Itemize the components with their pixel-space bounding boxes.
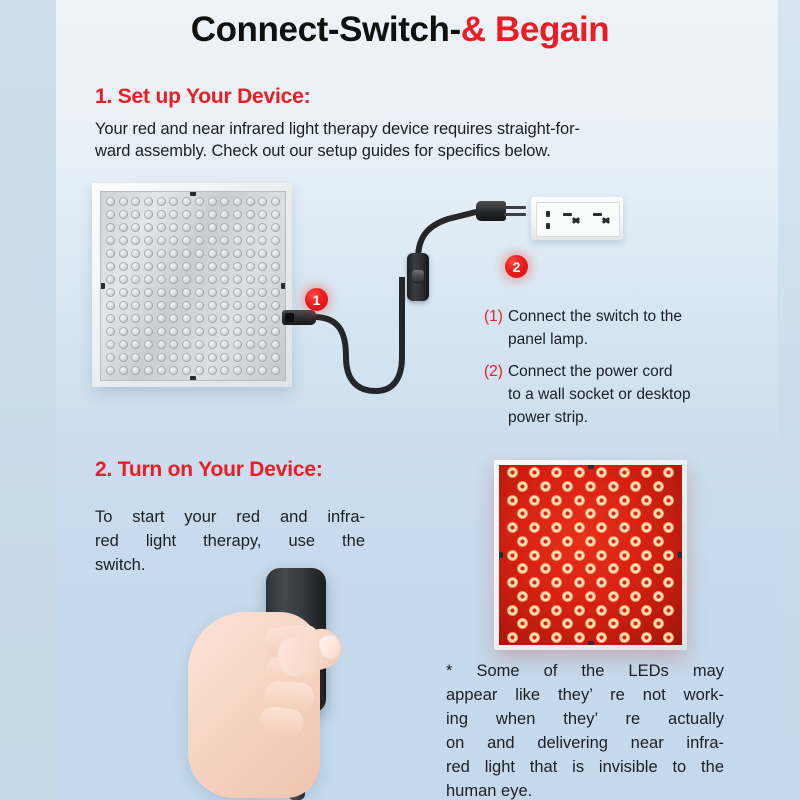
led-lit [562, 618, 573, 629]
led-unlit [208, 275, 217, 284]
led-unlit [182, 197, 191, 206]
led-unlit [182, 262, 191, 271]
led-unlit [258, 210, 267, 219]
led-lit [619, 495, 630, 506]
led-lit [529, 632, 540, 643]
led-unlit [169, 197, 178, 206]
section-2-body-line-1: To start your red and infra- [95, 505, 365, 529]
led-unlit [182, 249, 191, 258]
led-unlit [220, 340, 229, 349]
led-lit [641, 632, 652, 643]
step-badge-1: 1 [305, 288, 328, 311]
led-lit [517, 508, 528, 519]
led-unlit [208, 262, 217, 271]
led-lit [574, 577, 585, 588]
led-unlit [182, 340, 191, 349]
led-lit [551, 605, 562, 616]
led-unlit [106, 249, 115, 258]
led-unlit [106, 275, 115, 284]
led-unlit [271, 275, 280, 284]
connect-instruction-text: Connect the switch to the panel lamp. [508, 305, 784, 351]
page-title: Connect-Switch-& Begain [0, 10, 800, 50]
led-lit [507, 550, 518, 561]
step-badge-2: 2 [505, 255, 528, 278]
led-unlit [119, 236, 128, 245]
led-unlit [195, 327, 204, 336]
led-unlit [195, 288, 204, 297]
connect-instruction-item: (2) Connect the power cord to a wall soc… [484, 360, 784, 429]
led-unlit [182, 210, 191, 219]
led-unlit [144, 210, 153, 219]
led-unlit [258, 327, 267, 336]
inline-rocker-switch [407, 253, 429, 301]
led-lit [585, 508, 596, 519]
led-unlit [258, 223, 267, 232]
footnote-line: human eye. [446, 779, 724, 800]
led-unlit [246, 275, 255, 284]
led-unlit [220, 249, 229, 258]
led-row [501, 563, 680, 574]
led-unlit [131, 288, 140, 297]
led-lit [630, 508, 641, 519]
socket-outlet-two-pin-icon [541, 210, 555, 230]
led-lit [585, 563, 596, 574]
led-lit [653, 618, 664, 629]
led-lit [551, 632, 562, 643]
led-unlit [208, 197, 217, 206]
led-lit [608, 591, 619, 602]
page-title-black: Connect-Switch- [191, 10, 461, 49]
led-lit [540, 563, 551, 574]
led-unlit [157, 275, 166, 284]
led-lit [630, 536, 641, 547]
connect-instruction-line: power strip. [508, 406, 784, 429]
led-unlit [220, 210, 229, 219]
led-unlit [271, 327, 280, 336]
led-unlit [233, 236, 242, 245]
led-lit [574, 605, 585, 616]
led-unlit [246, 236, 255, 245]
led-lit [562, 481, 573, 492]
plug-prong-icon [504, 206, 526, 209]
led-unlit [271, 249, 280, 258]
led-unlit [119, 223, 128, 232]
led-unlit [131, 353, 140, 362]
led-lit [596, 577, 607, 588]
footnote-note: * Some of the LEDs may appear like they’… [446, 659, 724, 800]
led-grid-lit [501, 467, 680, 643]
footnote-line: red light that is invisible to the [446, 755, 724, 779]
led-unlit [169, 210, 178, 219]
led-unlit [195, 314, 204, 323]
led-unlit [258, 197, 267, 206]
led-lit [517, 563, 528, 574]
led-unlit [131, 366, 140, 375]
led-unlit [246, 210, 255, 219]
led-unlit [169, 314, 178, 323]
led-unlit [195, 366, 204, 375]
led-lit [641, 577, 652, 588]
footnote-line: * Some of the LEDs may [446, 659, 724, 683]
led-lit [585, 591, 596, 602]
led-lit [574, 632, 585, 643]
led-unlit [182, 327, 191, 336]
led-lit [596, 467, 607, 478]
led-unlit [119, 210, 128, 219]
led-lit [529, 605, 540, 616]
led-unlit [220, 262, 229, 271]
led-unlit [106, 327, 115, 336]
led-unlit [144, 223, 153, 232]
led-lit [619, 467, 630, 478]
led-lit [663, 605, 674, 616]
led-unlit [106, 366, 115, 375]
plug-prong-icon [504, 213, 526, 216]
two-prong-plug [476, 201, 506, 221]
led-unlit [233, 223, 242, 232]
led-panel-lit-surface [499, 465, 682, 645]
panel-screw-top-icon [588, 465, 594, 469]
led-lit [641, 467, 652, 478]
connect-instruction-text: Connect the power cord to a wall socket … [508, 360, 784, 429]
led-unlit [208, 301, 217, 310]
led-unlit [233, 275, 242, 284]
led-unlit [119, 340, 128, 349]
led-unlit [106, 197, 115, 206]
led-lit [529, 550, 540, 561]
led-unlit [233, 210, 242, 219]
led-lit [529, 495, 540, 506]
led-unlit [220, 223, 229, 232]
led-lit [517, 618, 528, 629]
led-unlit [208, 327, 217, 336]
led-unlit [208, 340, 217, 349]
led-lit [630, 591, 641, 602]
led-unlit [182, 236, 191, 245]
led-row [501, 605, 680, 616]
connect-instruction-item: (1) Connect the switch to the panel lamp… [484, 305, 784, 351]
led-lit [630, 563, 641, 574]
led-unlit [182, 275, 191, 284]
led-unlit [182, 353, 191, 362]
led-lit [507, 605, 518, 616]
led-unlit [258, 275, 267, 284]
led-lit [619, 605, 630, 616]
led-unlit [182, 314, 191, 323]
led-lit [540, 481, 551, 492]
socket-outlet-three-pin-icon [563, 210, 585, 230]
led-lit [596, 632, 607, 643]
led-unlit [208, 353, 217, 362]
led-unlit [106, 262, 115, 271]
wall-socket [531, 197, 623, 240]
led-unlit [246, 327, 255, 336]
left-edge-band [0, 0, 56, 800]
led-unlit [144, 275, 153, 284]
led-unlit [246, 340, 255, 349]
led-unlit [258, 236, 267, 245]
led-unlit [246, 249, 255, 258]
led-lit [529, 577, 540, 588]
led-lit [596, 522, 607, 533]
led-unlit [131, 249, 140, 258]
led-unlit [144, 314, 153, 323]
led-unlit [208, 288, 217, 297]
led-unlit [157, 236, 166, 245]
led-unlit [258, 262, 267, 271]
led-unlit [271, 262, 280, 271]
led-lit [585, 618, 596, 629]
led-lit [663, 550, 674, 561]
led-lit [574, 550, 585, 561]
led-unlit [208, 210, 217, 219]
led-unlit [106, 288, 115, 297]
led-row [501, 577, 680, 588]
led-unlit [157, 288, 166, 297]
led-unlit [131, 197, 140, 206]
led-unlit [233, 262, 242, 271]
led-lit [551, 577, 562, 588]
connect-instruction-marker: (2) [484, 360, 503, 429]
led-unlit [246, 366, 255, 375]
led-unlit [131, 262, 140, 271]
led-lit [529, 522, 540, 533]
led-lit [619, 522, 630, 533]
led-unlit [106, 236, 115, 245]
led-lit [551, 467, 562, 478]
led-row [501, 481, 680, 492]
led-unlit [246, 223, 255, 232]
led-unlit [157, 327, 166, 336]
led-unlit [157, 314, 166, 323]
led-unlit [246, 353, 255, 362]
led-unlit [195, 210, 204, 219]
led-lit [517, 536, 528, 547]
led-unlit [106, 210, 115, 219]
led-lit [641, 550, 652, 561]
connect-instruction-marker: (1) [484, 305, 503, 351]
led-unlit [208, 249, 217, 258]
section-2-heading: 2. Turn on Your Device: [95, 458, 323, 482]
led-unlit [208, 223, 217, 232]
led-unlit [169, 249, 178, 258]
connect-instruction-line: Connect the power cord [508, 360, 784, 383]
connect-instruction-line: panel lamp. [508, 328, 784, 351]
led-unlit [246, 197, 255, 206]
led-unlit [169, 301, 178, 310]
led-unlit [144, 249, 153, 258]
footnote-line: ing when they’ re actually [446, 707, 724, 731]
led-unlit [271, 314, 280, 323]
led-unlit [258, 366, 267, 375]
connect-instructions-list: (1) Connect the switch to the panel lamp… [484, 305, 784, 438]
section-2-body-line-2: red light therapy, use the [95, 529, 365, 553]
led-lit [641, 605, 652, 616]
led-unlit [106, 314, 115, 323]
led-unlit [195, 223, 204, 232]
footnote-line: on and delivering near infra- [446, 731, 724, 755]
led-unlit [233, 327, 242, 336]
led-panel-unlit-surface [100, 191, 286, 381]
led-row [501, 508, 680, 519]
led-lit [619, 550, 630, 561]
led-lit [608, 563, 619, 574]
led-unlit [169, 353, 178, 362]
led-lit [562, 591, 573, 602]
led-unlit [157, 353, 166, 362]
led-unlit [131, 301, 140, 310]
led-lit [663, 495, 674, 506]
led-unlit [195, 262, 204, 271]
led-unlit [169, 327, 178, 336]
led-unlit [182, 223, 191, 232]
led-unlit [119, 314, 128, 323]
led-unlit [144, 236, 153, 245]
led-unlit [246, 301, 255, 310]
led-lit [653, 563, 664, 574]
led-unlit [208, 314, 217, 323]
led-unlit [246, 288, 255, 297]
led-unlit [208, 366, 217, 375]
led-unlit [106, 301, 115, 310]
led-lit [562, 563, 573, 574]
led-unlit [119, 249, 128, 258]
led-unlit [119, 327, 128, 336]
led-lit [585, 481, 596, 492]
led-lit [517, 591, 528, 602]
led-unlit [119, 288, 128, 297]
led-unlit [246, 262, 255, 271]
led-lit [540, 536, 551, 547]
led-lit [608, 618, 619, 629]
led-unlit [157, 340, 166, 349]
connect-instruction-line: Connect the switch to the [508, 305, 784, 328]
led-lit [596, 605, 607, 616]
led-unlit [169, 288, 178, 297]
led-unlit [157, 366, 166, 375]
panel-screw-right-icon [678, 552, 682, 558]
socket-outlet-three-pin-icon [593, 210, 615, 230]
led-lit [608, 536, 619, 547]
led-unlit [131, 210, 140, 219]
led-unlit [169, 340, 178, 349]
led-unlit [246, 314, 255, 323]
led-unlit [119, 366, 128, 375]
led-unlit [233, 288, 242, 297]
led-lit [540, 591, 551, 602]
led-lit [619, 577, 630, 588]
led-unlit [131, 236, 140, 245]
led-unlit [182, 366, 191, 375]
panel-connector-plug [282, 310, 316, 325]
led-row [501, 591, 680, 602]
led-lit [596, 495, 607, 506]
led-unlit [220, 366, 229, 375]
led-unlit [271, 340, 280, 349]
led-unlit [144, 197, 153, 206]
led-unlit [233, 353, 242, 362]
led-unlit [195, 340, 204, 349]
led-lit [653, 508, 664, 519]
led-unlit [271, 301, 280, 310]
led-lit [551, 495, 562, 506]
led-unlit [157, 262, 166, 271]
panel-screw-bottom-icon [190, 376, 196, 381]
led-grid-unlit [104, 195, 282, 377]
page-title-red: & Begain [461, 10, 610, 49]
led-lit [653, 591, 664, 602]
led-row [501, 550, 680, 561]
led-unlit [220, 301, 229, 310]
led-lit [562, 536, 573, 547]
led-unlit [195, 197, 204, 206]
led-unlit [220, 314, 229, 323]
led-unlit [233, 301, 242, 310]
led-unlit [144, 262, 153, 271]
led-unlit [271, 236, 280, 245]
led-row [501, 522, 680, 533]
led-unlit [271, 223, 280, 232]
led-unlit [144, 327, 153, 336]
led-lit [507, 467, 518, 478]
led-lit [653, 536, 664, 547]
led-lit [507, 577, 518, 588]
led-unlit [195, 236, 204, 245]
led-lit [641, 495, 652, 506]
led-unlit [119, 275, 128, 284]
led-unlit [195, 353, 204, 362]
led-row [501, 536, 680, 547]
led-unlit [144, 301, 153, 310]
led-unlit [119, 262, 128, 271]
hand-holding-switch [180, 560, 470, 800]
led-unlit [131, 340, 140, 349]
led-panel-unlit [92, 183, 292, 387]
section-1-heading: 1. Set up Your Device: [95, 85, 310, 109]
led-lit [517, 481, 528, 492]
led-unlit [233, 366, 242, 375]
led-unlit [131, 327, 140, 336]
panel-screw-bottom-icon [588, 641, 594, 645]
led-lit [653, 481, 664, 492]
led-row [501, 495, 680, 506]
led-unlit [144, 288, 153, 297]
led-unlit [157, 249, 166, 258]
led-unlit [195, 275, 204, 284]
led-unlit [169, 366, 178, 375]
led-unlit [220, 288, 229, 297]
footnote-line: appear like they’ re not work- [446, 683, 724, 707]
led-unlit [106, 353, 115, 362]
led-unlit [271, 353, 280, 362]
led-unlit [131, 275, 140, 284]
led-lit [619, 632, 630, 643]
section-1-body-line-2: ward assembly. Check out our setup guide… [95, 140, 695, 162]
section-1-body-line-1: Your red and near infrared light therapy… [95, 118, 695, 140]
led-unlit [144, 340, 153, 349]
led-unlit [195, 301, 204, 310]
led-lit [540, 508, 551, 519]
led-unlit [131, 223, 140, 232]
led-lit [663, 522, 674, 533]
led-unlit [271, 197, 280, 206]
led-unlit [258, 314, 267, 323]
led-lit [641, 522, 652, 533]
led-lit [507, 522, 518, 533]
led-unlit [131, 314, 140, 323]
led-lit [585, 536, 596, 547]
wall-socket-face [536, 202, 620, 237]
